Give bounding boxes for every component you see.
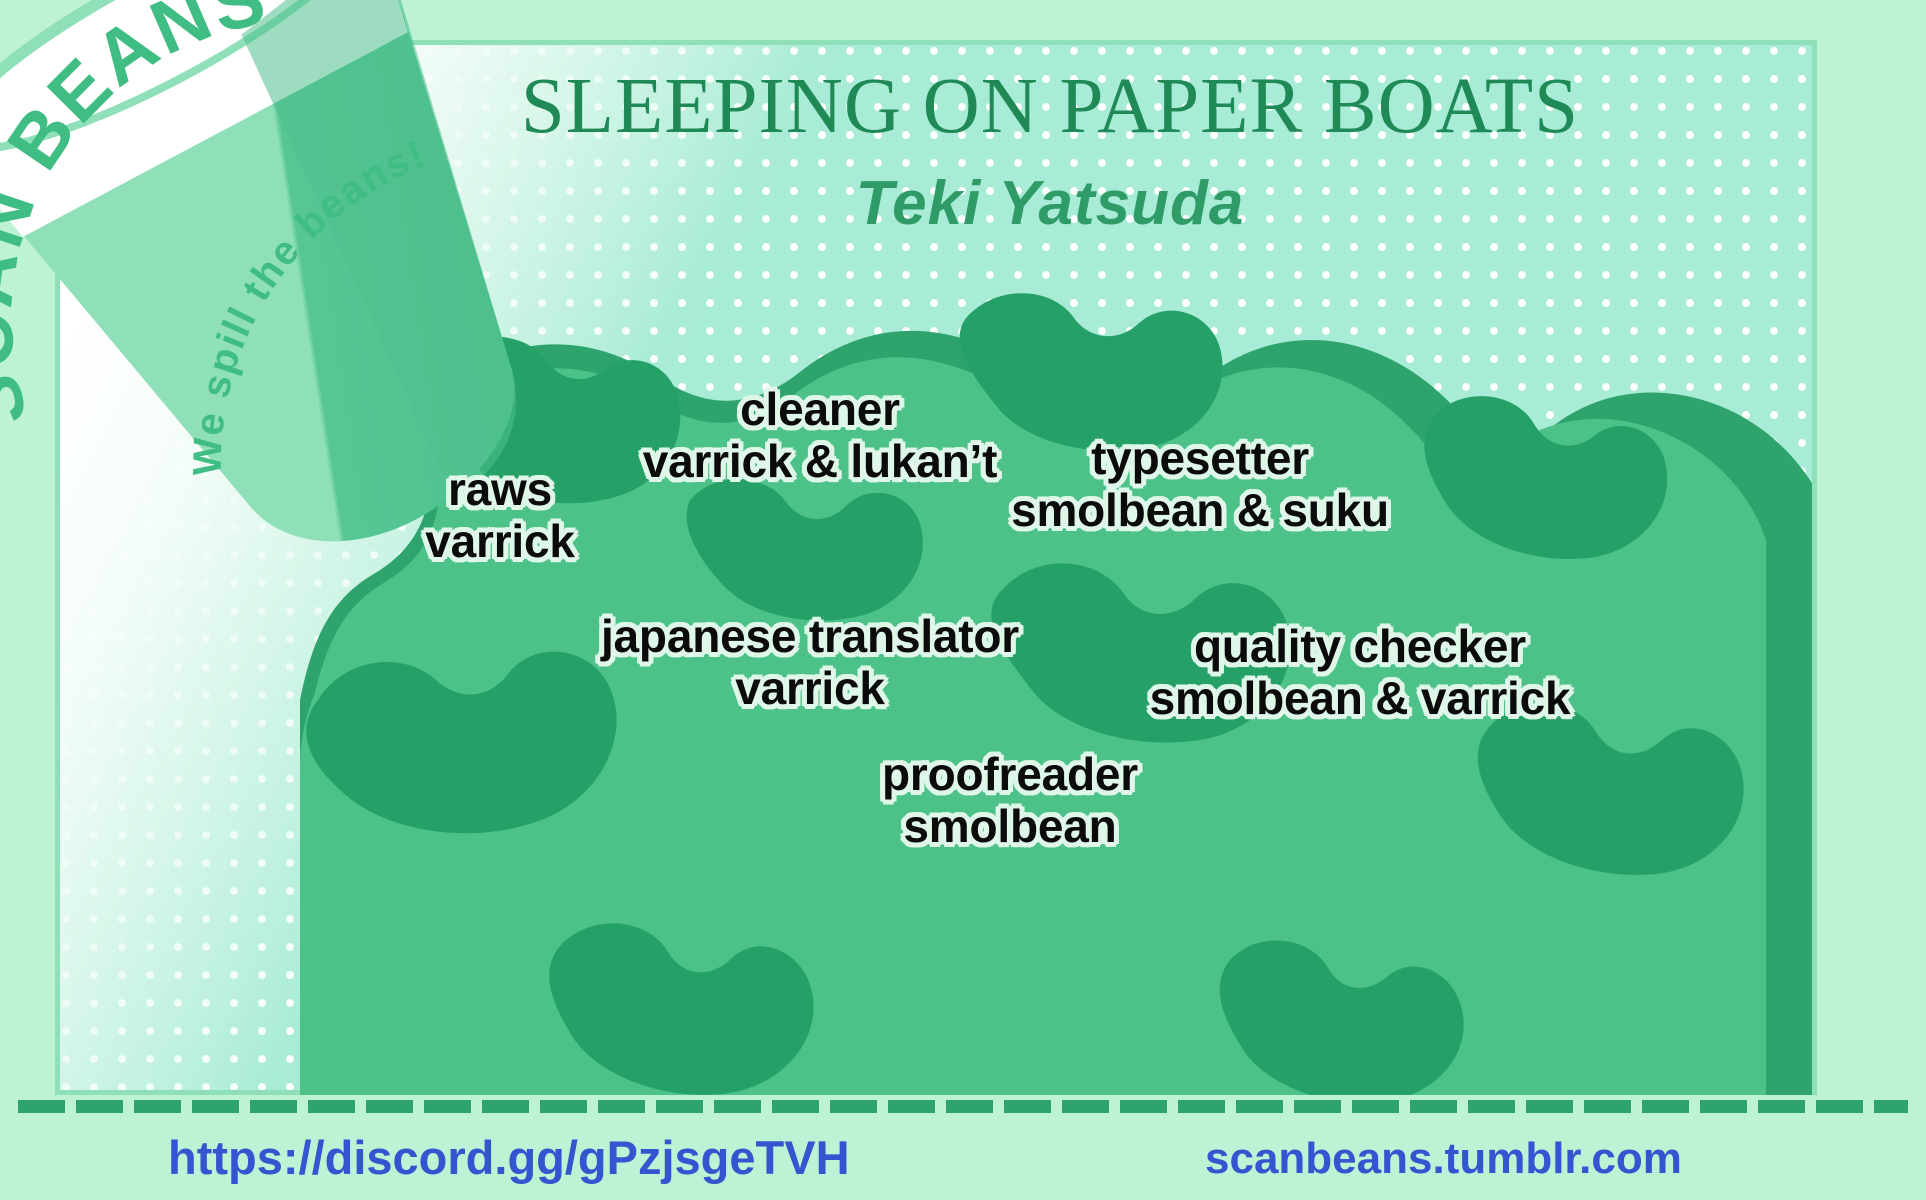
credit-role: proofreader xyxy=(700,748,1320,800)
tumblr-link[interactable]: scanbeans.tumblr.com xyxy=(1205,1134,1682,1184)
discord-link[interactable]: https://discord.gg/gPzjsgeTVH xyxy=(168,1130,850,1185)
credit-people: smolbean & suku xyxy=(890,484,1510,536)
credit-people: varrick xyxy=(310,515,690,567)
credit-page: SLEEPING ON PAPER BOATS Teki Yatsuda xyxy=(0,0,1926,1200)
credit-role: typesetter xyxy=(890,432,1510,484)
credit-typesetter: typesetter smolbean & suku xyxy=(890,432,1510,537)
dashed-divider xyxy=(18,1100,1908,1113)
credit-role: cleaner xyxy=(520,383,1120,435)
credit-proofreader: proofreader smolbean xyxy=(700,748,1320,853)
credit-people: smolbean xyxy=(700,800,1320,852)
credit-people: smolbean & varrick xyxy=(1000,672,1720,724)
credit-quality-checker: quality checker smolbean & varrick xyxy=(1000,620,1720,725)
credit-role: quality checker xyxy=(1000,620,1720,672)
footer-links: https://discord.gg/gPzjsgeTVH scanbeans.… xyxy=(0,1122,1926,1200)
